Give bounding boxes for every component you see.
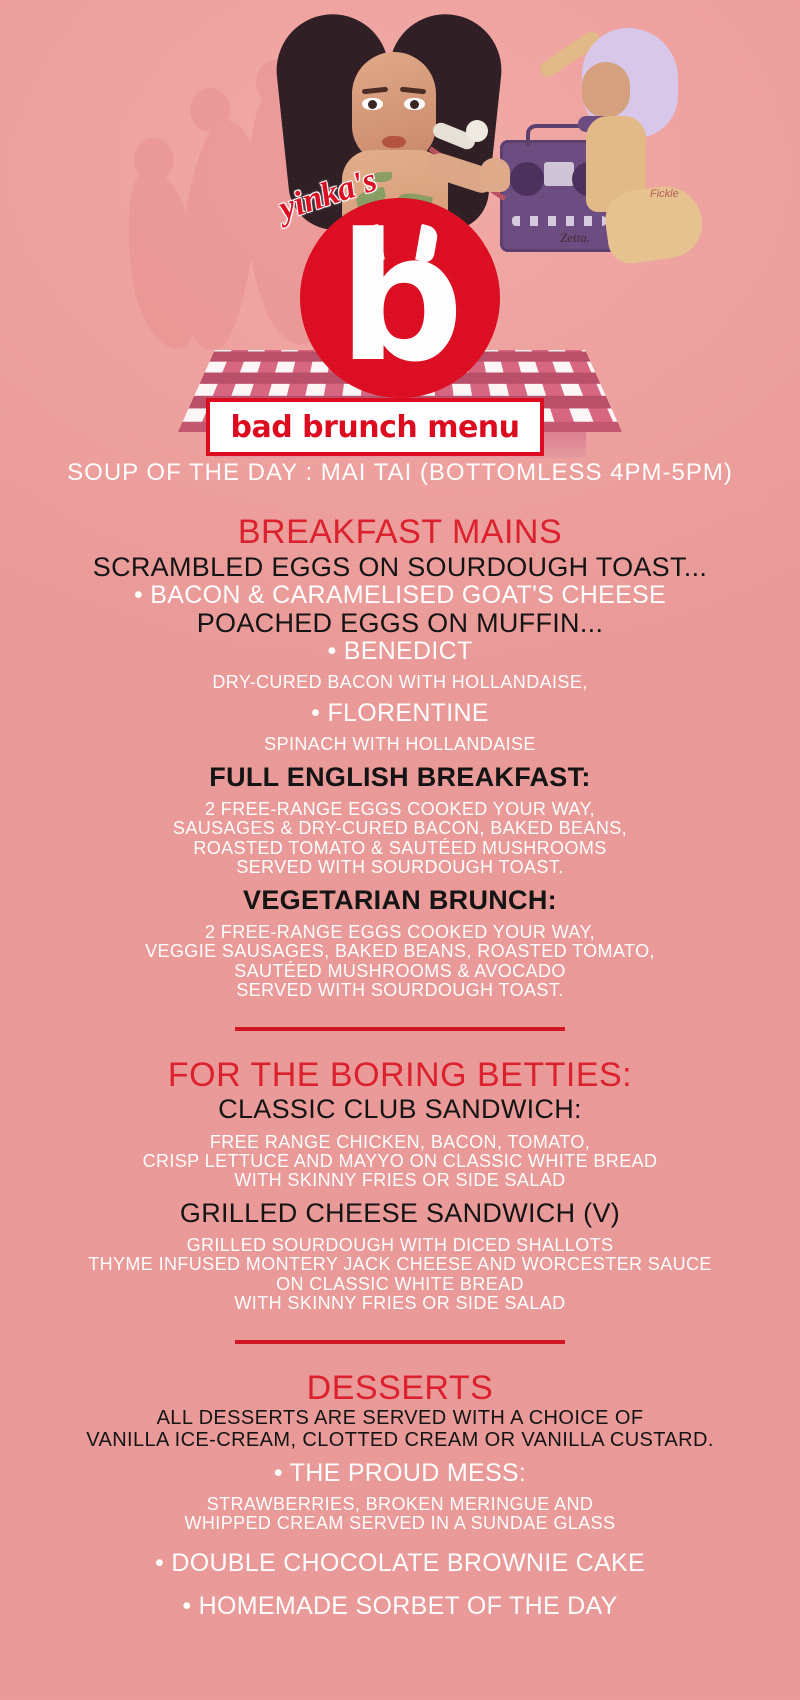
- menu-item-description: WHIPPED CREAM SERVED IN A SUNDAE GLASS: [0, 1514, 800, 1533]
- section-breakfast-mains: BREAKFAST MAINS SCRAMBLED EGGS ON SOURDO…: [0, 514, 800, 1001]
- menu-item-description: SERVED WITH SOURDOUGH TOAST.: [0, 858, 800, 877]
- menu-item-description: WITH SKINNY FRIES OR SIDE SALAD: [0, 1294, 800, 1313]
- menu-item-description: WITH SKINNY FRIES OR SIDE SALAD: [0, 1171, 800, 1190]
- section-heading: FOR THE BORING BETTIES:: [0, 1057, 800, 1094]
- menu-item: SCRAMBLED EGGS ON SOURDOUGH TOAST...: [0, 553, 800, 582]
- menu-item-description: ROASTED TOMATO & SAUTÉED MUSHROOMS: [0, 839, 800, 858]
- menu-title-text: bad brunch menu: [230, 410, 519, 445]
- dancer-tattoo-text: Fickle: [650, 188, 679, 200]
- menu-item-description: 2 FREE-RANGE EGGS COOKED YOUR WAY,: [0, 800, 800, 819]
- brunch-menu-page: Fickle Zetta. b yi: [0, 0, 800, 1700]
- menu-item-description: 2 FREE-RANGE EGGS COOKED YOUR WAY,: [0, 923, 800, 942]
- menu-item: VEGETARIAN BRUNCH:: [0, 886, 800, 915]
- section-divider: [235, 1340, 565, 1344]
- menu-item-description: GRILLED SOURDOUGH WITH DICED SHALLOTS: [0, 1236, 800, 1255]
- menu-item-description: SAUTÉED MUSHROOMS & AVOCADO: [0, 962, 800, 981]
- brand-logo: b yinka's: [300, 198, 500, 398]
- section-boring-betties: FOR THE BORING BETTIES: CLASSIC CLUB SAN…: [0, 1057, 800, 1314]
- menu-item: • BENEDICT: [0, 638, 800, 665]
- menu-item: • DOUBLE CHOCOLATE BROWNIE CAKE: [0, 1550, 800, 1577]
- menu-title-plate: bad brunch menu: [206, 398, 544, 456]
- menu-item-description: STRAWBERRIES, BROKEN MERINGUE AND: [0, 1495, 800, 1514]
- menu-item-description: DRY-CURED BACON WITH HOLLANDAISE,: [0, 673, 800, 692]
- menu-item-description: ON CLASSIC WHITE BREAD: [0, 1275, 800, 1294]
- menu-item: GRILLED CHEESE SANDWICH (V): [0, 1199, 800, 1228]
- logo-letter-b: b: [300, 214, 500, 384]
- menu-item-description: VANILLA ICE-CREAM, CLOTTED CREAM OR VANI…: [0, 1430, 800, 1452]
- menu-item-description: FREE RANGE CHICKEN, BACON, TOMATO,: [0, 1133, 800, 1152]
- artist-signature: Zetta.: [560, 230, 590, 246]
- menu-item: CLASSIC CLUB SANDWICH:: [0, 1095, 800, 1124]
- section-heading: BREAKFAST MAINS: [0, 514, 800, 551]
- soup-of-the-day: SOUP OF THE DAY : MAI TAI (BOTTOMLESS 4P…: [0, 460, 800, 486]
- menu-item: POACHED EGGS ON MUFFIN...: [0, 609, 800, 638]
- menu-item: FULL ENGLISH BREAKFAST:: [0, 763, 800, 792]
- menu-item: • HOMEMADE SORBET OF THE DAY: [0, 1593, 800, 1620]
- hero-artwork: Fickle Zetta. b yi: [0, 0, 800, 460]
- menu-item-description: CRISP LETTUCE AND MAYYO ON CLASSIC WHITE…: [0, 1152, 800, 1171]
- menu-content: SOUP OF THE DAY : MAI TAI (BOTTOMLESS 4P…: [0, 460, 800, 1620]
- menu-item-description: SPINACH WITH HOLLANDAISE: [0, 735, 800, 754]
- menu-item: • BACON & CARAMELISED GOAT'S CHEESE: [0, 582, 800, 609]
- menu-item-description: SAUSAGES & DRY-CURED BACON, BAKED BEANS,: [0, 819, 800, 838]
- menu-item-description: VEGGIE SAUSAGES, BAKED BEANS, ROASTED TO…: [0, 942, 800, 961]
- section-divider: [235, 1027, 565, 1031]
- menu-item: • FLORENTINE: [0, 700, 800, 727]
- section-heading: DESSERTS: [0, 1370, 800, 1407]
- lilac-dancer-illustration: Fickle: [520, 20, 720, 270]
- menu-item: • THE PROUD MESS:: [0, 1460, 800, 1487]
- menu-item-description: ALL DESSERTS ARE SERVED WITH A CHOICE OF: [0, 1408, 800, 1430]
- section-desserts: DESSERTS ALL DESSERTS ARE SERVED WITH A …: [0, 1370, 800, 1620]
- menu-item-description: THYME INFUSED MONTERY JACK CHEESE AND WO…: [0, 1255, 800, 1274]
- menu-item-description: SERVED WITH SOURDOUGH TOAST.: [0, 981, 800, 1000]
